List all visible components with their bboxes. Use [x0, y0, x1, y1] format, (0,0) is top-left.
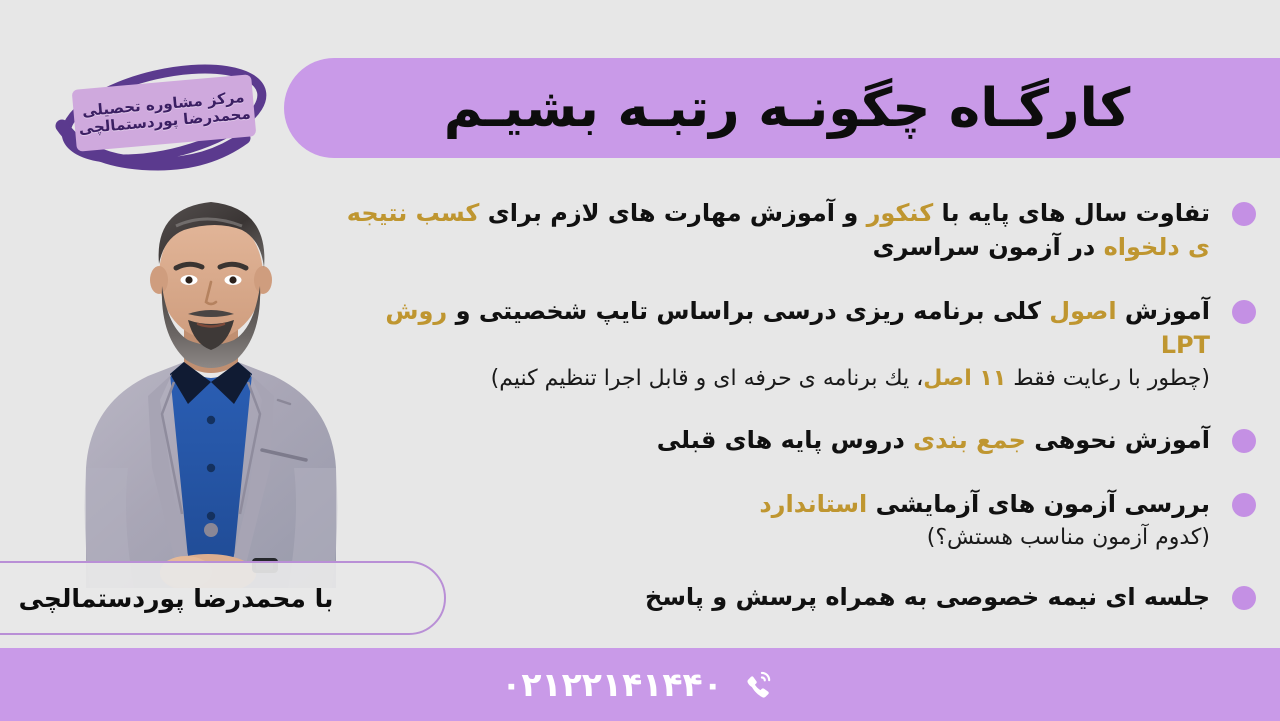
bullet-sub-text: (چطور با رعایت فقط ۱۱ اصل، یك برنامه ی ح… — [336, 364, 1210, 395]
bullet-body: تفاوت سال های پایه با کنکور و آموزش مهار… — [336, 196, 1210, 264]
presenter-name: با محمدرضا پوردستمالچی — [19, 584, 334, 613]
bullet-list: تفاوت سال های پایه با کنکور و آموزش مهار… — [336, 196, 1256, 614]
plain-text: جلسه ای نیمه خصوصی به همراه پرسش و پاسخ — [645, 583, 1210, 611]
phone-number[interactable]: ۰۲۱۲۲۱۴۱۴۴۰ — [501, 665, 723, 704]
plain-text: ، یك برنامه ی حرفه ای و قابل اجرا تنظیم … — [491, 366, 924, 391]
presenter-badge: با محمدرضا پوردستمالچی — [0, 561, 446, 635]
bullet-dot-icon — [1232, 429, 1256, 453]
bullet-body: آموزش نحوهی جمع بندی دروس پایه های قبلی — [336, 423, 1210, 457]
plain-text: (چطور با رعایت فقط — [1006, 366, 1210, 391]
bullet-dot-icon — [1232, 586, 1256, 610]
plain-text: آموزش نحوهی — [1026, 426, 1210, 454]
phone-ringing-icon — [739, 665, 779, 705]
list-item: جلسه ای نیمه خصوصی به همراه پرسش و پاسخ — [336, 580, 1256, 614]
poster-canvas: مرکز مشاوره تحصیلی محمدرضا پوردستمالچی ک… — [0, 0, 1280, 721]
plain-text: (کدوم آزمون مناسب هستش؟) — [927, 525, 1210, 550]
bullet-body: آموزش اصول کلی برنامه ریزی درسی براساس ت… — [336, 294, 1210, 395]
bullet-main-text: تفاوت سال های پایه با کنکور و آموزش مهار… — [336, 196, 1210, 264]
page-title: کارگـاه چگونـه رتبـه بشیـم — [444, 82, 1131, 135]
highlight-text: استاندارد — [759, 490, 867, 518]
bullet-dot-icon — [1232, 300, 1256, 324]
highlight-text: اصول — [1049, 297, 1116, 325]
plain-text: در آزمون سراسری — [873, 233, 1104, 261]
list-item: بررسی آزمون های آزمایشی استاندارد (کدوم … — [336, 487, 1256, 554]
plain-text: دروس پایه های قبلی — [657, 426, 913, 454]
brand-logo: مرکز مشاوره تحصیلی محمدرضا پوردستمالچی — [48, 52, 280, 176]
highlight-text: کنکور — [867, 199, 934, 227]
plain-text: بررسی آزمون های آزمایشی — [867, 490, 1210, 518]
bullet-main-text: جلسه ای نیمه خصوصی به همراه پرسش و پاسخ — [336, 580, 1210, 614]
bullet-main-text: آموزش اصول کلی برنامه ریزی درسی براساس ت… — [336, 294, 1210, 362]
bullet-body: بررسی آزمون های آزمایشی استاندارد (کدوم … — [336, 487, 1210, 554]
list-item: آموزش نحوهی جمع بندی دروس پایه های قبلی — [336, 423, 1256, 457]
bullet-dot-icon — [1232, 202, 1256, 226]
bullet-main-text: آموزش نحوهی جمع بندی دروس پایه های قبلی — [336, 423, 1210, 457]
plain-text: کلی برنامه ریزی درسی براساس تایپ شخصیتی … — [447, 297, 1049, 325]
plain-text: تفاوت سال های پایه با — [933, 199, 1210, 227]
highlight-text: جمع بندی — [913, 426, 1026, 454]
plain-text: و آموزش مهارت های لازم برای — [479, 199, 866, 227]
bullet-body: جلسه ای نیمه خصوصی به همراه پرسش و پاسخ — [336, 580, 1210, 614]
bullet-dot-icon — [1232, 493, 1256, 517]
bullet-main-text: بررسی آزمون های آزمایشی استاندارد — [336, 487, 1210, 521]
plain-text: آموزش — [1117, 297, 1210, 325]
list-item: آموزش اصول کلی برنامه ریزی درسی براساس ت… — [336, 294, 1256, 395]
list-item: تفاوت سال های پایه با کنکور و آموزش مهار… — [336, 196, 1256, 264]
bullet-sub-text: (کدوم آزمون مناسب هستش؟) — [336, 523, 1210, 554]
title-banner: کارگـاه چگونـه رتبـه بشیـم — [284, 58, 1280, 158]
footer-contact-bar: ۰۲۱۲۲۱۴۱۴۴۰ — [0, 648, 1280, 721]
highlight-text: ۱۱ اصل — [923, 366, 1006, 391]
